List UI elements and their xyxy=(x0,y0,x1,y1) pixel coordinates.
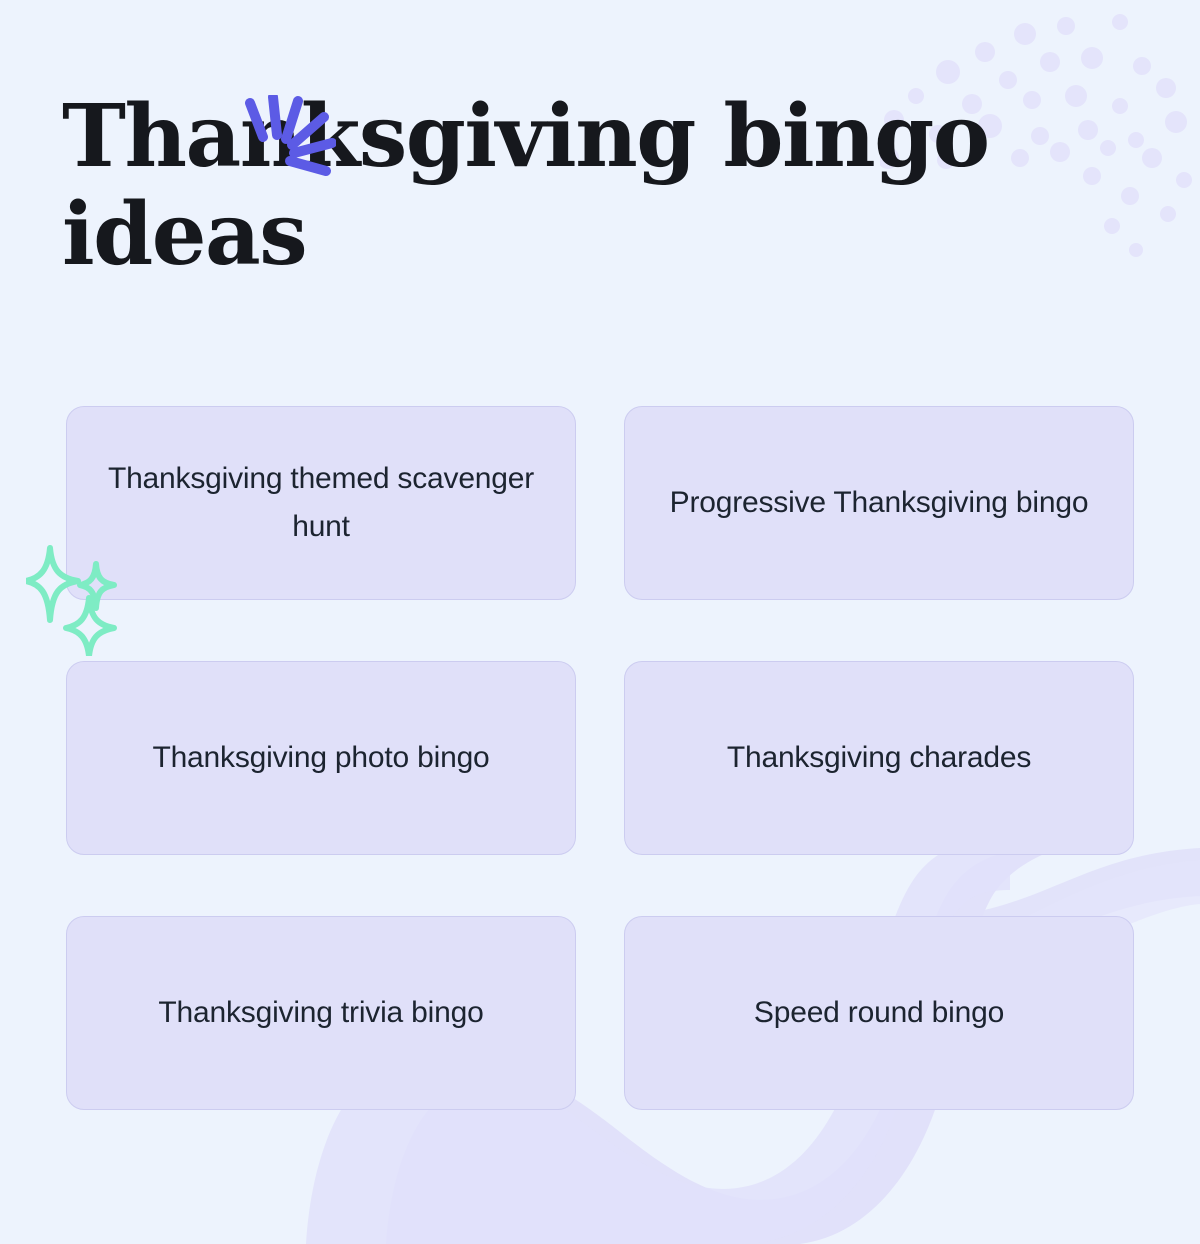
page-title-line-1: Thanksgiving bingo xyxy=(62,86,989,187)
idea-card[interactable]: Thanksgiving trivia bingo xyxy=(66,916,576,1110)
thanksgiving-bingo-ideas-graphic: Thanksgiving bingoideas Thanksgiving the… xyxy=(0,0,1200,1244)
idea-card-label: Speed round bingo xyxy=(754,989,1004,1037)
idea-card[interactable]: Thanksgiving charades xyxy=(624,661,1134,855)
idea-card[interactable]: Thanksgiving photo bingo xyxy=(66,661,576,855)
idea-card[interactable]: Thanksgiving themed scavenger hunt xyxy=(66,406,576,600)
idea-card[interactable]: Progressive Thanksgiving bingo xyxy=(624,406,1134,600)
idea-card-label: Thanksgiving photo bingo xyxy=(152,734,489,782)
page-title: Thanksgiving bingoideas xyxy=(62,88,1122,284)
page-title-text: Thanksgiving bingoideas xyxy=(62,88,1062,284)
idea-card-label: Progressive Thanksgiving bingo xyxy=(670,479,1089,527)
idea-card[interactable]: Speed round bingo xyxy=(624,916,1134,1110)
idea-card-label: Thanksgiving themed scavenger hunt xyxy=(101,455,541,551)
idea-cards-grid: Thanksgiving themed scavenger hunt Progr… xyxy=(66,406,1134,1110)
idea-card-label: Thanksgiving trivia bingo xyxy=(158,989,483,1037)
idea-card-label: Thanksgiving charades xyxy=(727,734,1031,782)
page-title-line-2: ideas xyxy=(62,186,306,284)
